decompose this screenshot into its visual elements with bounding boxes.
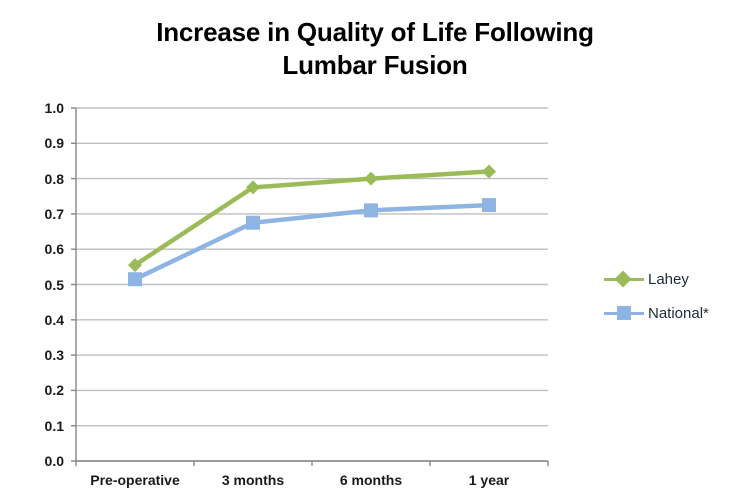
x-axis-tick-label: 1 year (419, 473, 559, 487)
legend-marker-shape (617, 306, 631, 320)
y-axis-tick-label: 0.3 (22, 348, 64, 362)
data-point-marker (364, 172, 378, 186)
y-axis-tick-label: 1.0 (22, 101, 64, 115)
y-axis-tick-label: 0.5 (22, 278, 64, 292)
y-axis-tick-label: 0.8 (22, 172, 64, 186)
legend-marker-shape (615, 271, 632, 288)
y-axis-tick-label: 0.9 (22, 136, 64, 150)
chart-container: Increase in Quality of Life Following Lu… (0, 0, 750, 500)
legend-item-2[interactable]: National* (604, 296, 744, 330)
data-point-marker (482, 198, 496, 212)
data-point-marker (128, 272, 142, 286)
data-point-marker (246, 216, 260, 230)
data-point-marker (364, 203, 378, 217)
y-axis-tick-label: 0.1 (22, 419, 64, 433)
series-2 (128, 198, 496, 286)
y-axis-tick-label: 0.0 (22, 454, 64, 468)
legend-diamond-marker-icon (604, 270, 644, 288)
y-axis-tick-label: 0.7 (22, 207, 64, 221)
y-axis-tick-label: 0.6 (22, 242, 64, 256)
chart-legend: LaheyNational* (604, 262, 744, 330)
legend-square-marker-icon (604, 304, 644, 322)
legend-item-1[interactable]: Lahey (604, 262, 744, 296)
x-axis-ticks (76, 461, 548, 466)
legend-label: Lahey (644, 271, 689, 288)
y-axis-tick-label: 0.4 (22, 313, 64, 327)
y-axis-tick-label: 0.2 (22, 383, 64, 397)
data-series-layer (128, 165, 496, 287)
legend-label: National* (644, 305, 709, 322)
gridlines (76, 108, 548, 461)
data-point-marker (482, 165, 496, 179)
y-axis-ticks (71, 108, 76, 461)
plot-area (0, 0, 750, 500)
